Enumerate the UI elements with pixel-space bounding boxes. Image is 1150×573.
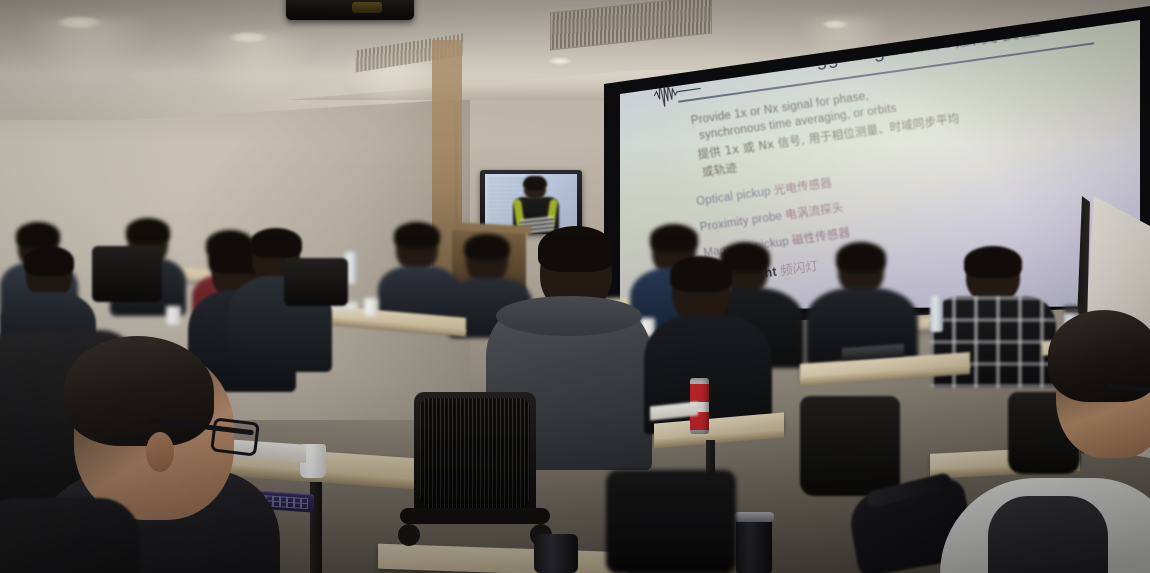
attendee-hair xyxy=(538,226,614,272)
slide-bullet-chinese: 磁性传感器 xyxy=(791,225,851,247)
office-chair-mesh-back xyxy=(420,398,530,510)
classroom-photo: Triggering Devices 触发装置 Provide 1x or Nx… xyxy=(0,0,1150,573)
chair-caster xyxy=(398,524,420,546)
attendee-hair xyxy=(836,242,886,272)
attendee-hair xyxy=(670,256,732,292)
thermos-flask xyxy=(736,516,772,573)
slide-bullet-chinese: 电涡流探头 xyxy=(784,200,844,222)
attendee-ear xyxy=(146,432,174,472)
office-chair xyxy=(800,396,900,496)
attendee-hair xyxy=(250,228,302,258)
thermos-lid xyxy=(734,512,774,522)
paper-cup xyxy=(364,298,378,316)
office-chair xyxy=(92,246,162,302)
foreground-attendee-torso xyxy=(988,496,1108,573)
slide-bullet-chinese: 频闪灯 xyxy=(779,258,819,278)
hoodie-hood xyxy=(496,296,642,336)
slide-bullet-text: Proximity probe xyxy=(699,210,783,233)
attendee-hair xyxy=(464,234,510,260)
foreground-attendee-torso xyxy=(0,498,140,573)
presenter-glasses xyxy=(527,186,543,190)
office-chair xyxy=(284,258,348,306)
attendee-hair xyxy=(24,246,74,276)
attendee-hair xyxy=(964,246,1022,278)
attendee-hair xyxy=(650,224,698,252)
chair-base xyxy=(400,508,550,524)
projector-lens xyxy=(352,2,382,13)
slide-bullet-chinese: 光电传感器 xyxy=(773,175,833,197)
attendee-hair xyxy=(16,222,60,248)
glasses-lens xyxy=(210,417,260,456)
thermos-flask xyxy=(534,534,578,573)
ceiling-light xyxy=(548,57,572,65)
paper-cup xyxy=(166,306,181,325)
ceiling-light-glow xyxy=(196,34,316,98)
slide-bullet-text: Optical pickup xyxy=(696,186,772,208)
ceiling-light-glow xyxy=(22,18,152,88)
slide-bullet: 或轨迹 xyxy=(701,159,738,180)
bottle-cap xyxy=(1064,306,1079,313)
foreground-attendee-hair xyxy=(64,336,214,446)
chair-back xyxy=(606,470,736,573)
ceiling-projector xyxy=(286,0,414,20)
water-bottle xyxy=(930,296,943,332)
attendee-hair xyxy=(394,222,440,248)
attendee-hair xyxy=(126,218,170,244)
